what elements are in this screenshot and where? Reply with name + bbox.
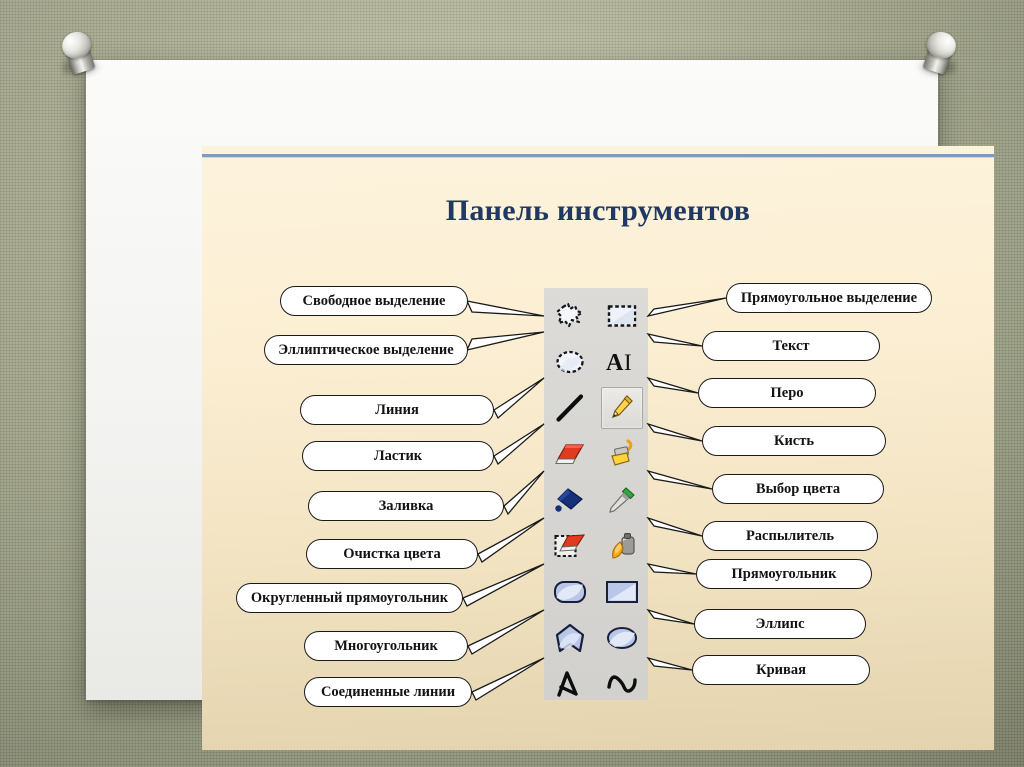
callout-label: Эллиптическое выделение	[278, 342, 453, 359]
callout-label: Ластик	[374, 448, 422, 465]
callout-rectangle[interactable]: Прямоугольник	[696, 559, 872, 589]
callout-free-form-select[interactable]: Свободное выделение	[280, 286, 468, 316]
callout-eraser[interactable]: Ластик	[302, 441, 494, 471]
callout-text-tool[interactable]: Текст	[702, 331, 880, 361]
callout-label: Прямоугольное выделение	[741, 290, 917, 307]
callout-label: Перо	[770, 385, 803, 402]
callout-spray-can[interactable]: Распылитель	[702, 521, 878, 551]
callout-polygon[interactable]: Многоугольник	[304, 631, 468, 661]
callout-pencil[interactable]: Перо	[698, 378, 876, 408]
pushpin-left	[56, 30, 102, 86]
callout-label: Эллипс	[755, 616, 804, 633]
callout-label: Многоугольник	[334, 638, 438, 655]
callout-curve[interactable]: Кривая	[692, 655, 870, 685]
callout-rectangle-select[interactable]: Прямоугольное выделение	[726, 283, 932, 313]
callout-label: Соединенные линии	[321, 684, 455, 701]
pushpin-right	[916, 30, 962, 86]
callout-label: Выбор цвета	[756, 481, 840, 498]
callout-line[interactable]: Линия	[300, 395, 494, 425]
callout-label: Кисть	[774, 433, 814, 450]
callout-label: Линия	[375, 402, 419, 419]
callout-label: Кривая	[756, 662, 806, 679]
slide-screenshot: Панель инструментов	[0, 0, 1024, 767]
callout-label: Очистка цвета	[343, 546, 441, 563]
callout-brush[interactable]: Кисть	[702, 426, 886, 456]
callout-ellipse-select[interactable]: Эллиптическое выделение	[264, 335, 468, 365]
callout-color-eraser[interactable]: Очистка цвета	[306, 539, 478, 569]
callout-label: Распылитель	[746, 528, 834, 545]
callout-color-picker[interactable]: Выбор цвета	[712, 474, 884, 504]
callout-label: Прямоугольник	[732, 566, 837, 583]
slide-canvas: Панель инструментов	[202, 146, 994, 750]
paper-frame: Панель инструментов	[86, 60, 938, 700]
callout-label: Округленный прямоугольник	[251, 590, 448, 607]
callout-fill-bucket[interactable]: Заливка	[308, 491, 504, 521]
callout-connected-lines[interactable]: Соединенные линии	[304, 677, 472, 707]
callout-ellipse[interactable]: Эллипс	[694, 609, 866, 639]
callout-label: Текст	[772, 338, 809, 355]
callout-label: Заливка	[379, 498, 434, 515]
callout-rounded-rectangle[interactable]: Округленный прямоугольник	[236, 583, 463, 613]
callout-label: Свободное выделение	[303, 293, 446, 310]
